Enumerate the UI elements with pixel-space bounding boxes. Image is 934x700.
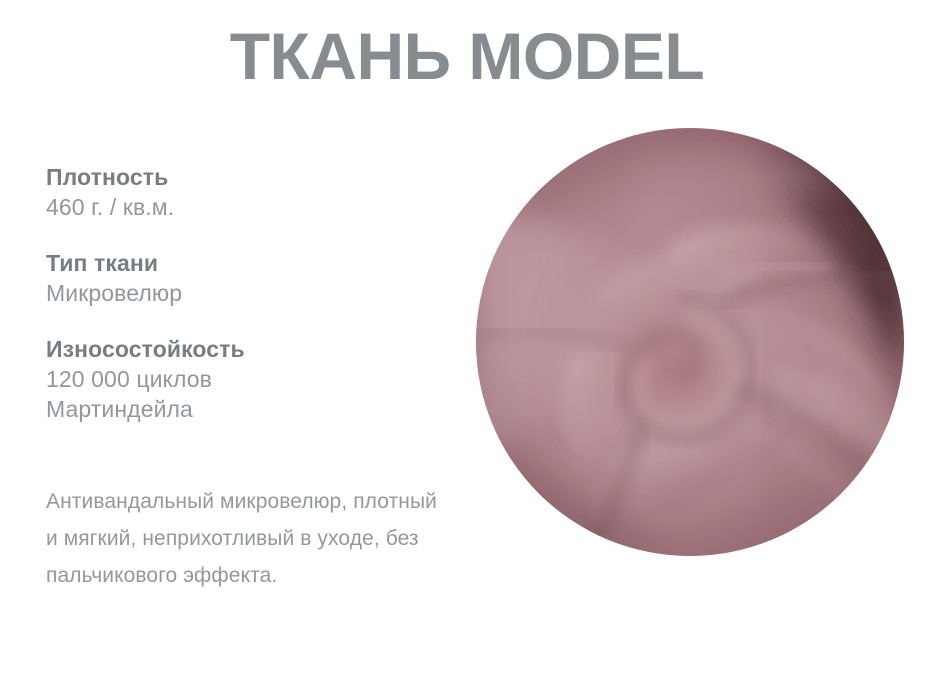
spec-item-density: Плотность 460 г. / кв.м. <box>46 163 446 222</box>
spec-item-durability: Износостойкость 120 000 циклов Мартиндей… <box>46 335 446 425</box>
fabric-swatch-photo <box>476 128 904 556</box>
spec-item-fabric-type: Тип ткани Микровелюр <box>46 249 446 308</box>
spec-label-fabric-type: Тип ткани <box>46 249 446 278</box>
spec-value-fabric-type: Микровелюр <box>46 278 446 309</box>
spec-label-density: Плотность <box>46 163 446 192</box>
spec-label-durability: Износостойкость <box>46 335 446 364</box>
description-text: Антивандальный микровелюр, плотный и мяг… <box>46 483 446 594</box>
spec-value-density: 460 г. / кв.м. <box>46 192 446 223</box>
page-title: ТКАНЬ MODEL <box>0 22 934 91</box>
spec-list: Плотность 460 г. / кв.м. Тип ткани Микро… <box>46 163 446 425</box>
spec-value-durability: 120 000 циклов Мартиндейла <box>46 364 446 425</box>
fabric-swirl-illustration <box>476 128 904 556</box>
fabric-spec-slide: ТКАНЬ MODEL Плотность 460 г. / кв.м. Тип… <box>0 0 934 700</box>
